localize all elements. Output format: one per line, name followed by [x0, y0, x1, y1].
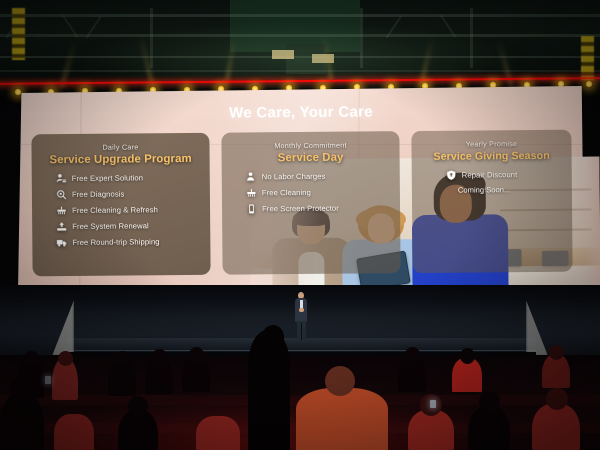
keynote-photo: We Care, Your Care Daily Care Service Up…: [0, 0, 600, 450]
audience-head-foreground: [262, 325, 284, 349]
audience-head: [460, 348, 475, 364]
speaker-hands: [299, 308, 304, 312]
feature-label: Free Cleaning: [262, 188, 311, 197]
audience-head: [405, 347, 420, 362]
panel-monthly-commitment[interactable]: Monthly Commitment Service Day No Labor …: [221, 131, 400, 275]
magnifier-diagnosis-icon: [56, 189, 67, 200]
panel-daily-care[interactable]: Daily Care Service Upgrade Program Free …: [31, 133, 210, 277]
screen-protector-icon: [246, 203, 257, 214]
panel-kicker: Yearly Promise: [419, 139, 563, 149]
audience-head: [128, 396, 148, 416]
feature-label: Free Screen Protector: [262, 204, 339, 214]
feature-label: No Labor Charges: [262, 172, 326, 182]
audience-member: [118, 410, 158, 450]
audience-head: [115, 351, 130, 366]
truss-beam: [0, 14, 600, 17]
brush-cleaning-icon: [56, 205, 67, 216]
audience-member: [296, 388, 388, 450]
audience-head: [549, 345, 564, 360]
keynote-speaker: [294, 292, 308, 344]
feature-label: Free Expert Solution: [72, 173, 143, 183]
labor-person-icon: [246, 171, 257, 182]
ceiling-light-box: [272, 50, 294, 59]
panel-yearly-promise[interactable]: Yearly Promise Service Giving Season Rep…: [411, 130, 572, 273]
panel-title: Service Day: [230, 151, 392, 164]
feature-item: Free Round-trip Shipping: [56, 236, 202, 248]
audience-member: [0, 392, 44, 450]
feature-item: Free Diagnosis: [56, 188, 202, 200]
audience-head: [546, 388, 568, 410]
system-renewal-icon: [56, 221, 67, 232]
phone-screen-glow: [430, 400, 436, 408]
panel-kicker: Monthly Commitment: [229, 140, 391, 150]
audience-member: [196, 416, 240, 450]
audience-head: [189, 347, 204, 362]
brush-cleaning-icon: [246, 187, 257, 198]
feature-label: Free Cleaning & Refresh: [72, 205, 158, 215]
ceiling-light-box: [312, 54, 334, 63]
ceiling-bulb: [585, 80, 593, 88]
feature-item: Free Expert Solution: [56, 172, 202, 184]
feature-item: No Labor Charges: [246, 170, 392, 182]
coming-soon-note: Coming Soon...: [458, 185, 564, 195]
audience-head: [10, 378, 32, 400]
panel-kicker: Daily Care: [39, 142, 201, 152]
feature-item: Repair Discount: [446, 169, 564, 181]
feature-item: Free Cleaning & Refresh: [56, 204, 202, 216]
audience-member: [468, 406, 510, 450]
audience-head: [24, 351, 39, 366]
audience-member: [54, 414, 94, 450]
feature-label: Free System Renewal: [72, 221, 149, 231]
repair-discount-icon: [446, 170, 457, 181]
shipping-truck-icon: [56, 237, 67, 248]
service-panels: Daily Care Service Upgrade Program Free …: [31, 130, 572, 277]
panel-title: Service Giving Season: [420, 150, 564, 163]
audience-head: [152, 349, 167, 364]
audience-head: [325, 366, 355, 396]
phone-screen-glow: [45, 376, 51, 384]
feature-item: Free Cleaning: [246, 186, 392, 198]
audience-head: [479, 391, 500, 412]
feature-label: Free Diagnosis: [72, 190, 125, 199]
panel-title: Service Upgrade Program: [40, 153, 202, 166]
feature-label: Free Round-trip Shipping: [72, 237, 159, 247]
hall-side-banner: [581, 36, 594, 80]
audience-head: [58, 351, 73, 366]
expert-person-icon: [56, 173, 67, 184]
feature-item: Free System Renewal: [56, 220, 202, 232]
feature-item: Free Screen Protector: [246, 202, 392, 214]
led-screen: We Care, Your Care Daily Care Service Up…: [18, 86, 584, 291]
hall-side-banner: [12, 8, 25, 60]
audience-member: [532, 404, 580, 450]
feature-label: Repair Discount: [462, 170, 518, 179]
audience-member: [408, 410, 454, 450]
speaker-leg-gap: [301, 323, 302, 340]
